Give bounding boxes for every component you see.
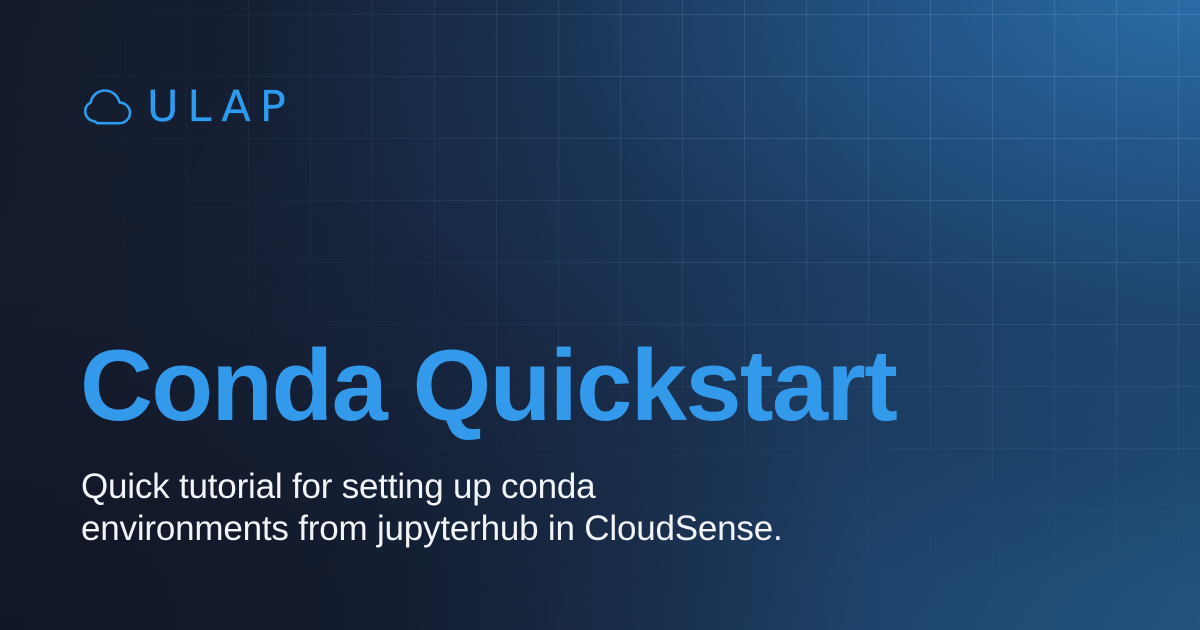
page-subtitle: Quick tutorial for setting up conda envi… xyxy=(81,466,961,550)
page-subtitle-line-1: Quick tutorial for setting up conda xyxy=(81,466,961,508)
brand-logo: ULAP xyxy=(84,82,295,134)
brand-wordmark: ULAP xyxy=(147,86,295,129)
social-card: ULAP Conda Quickstart Quick tutorial for… xyxy=(0,0,1200,630)
page-subtitle-line-2: environments from jupyterhub in CloudSen… xyxy=(81,508,961,550)
page-title: Conda Quickstart xyxy=(80,335,1100,438)
cloud-outline-icon xyxy=(84,87,134,130)
